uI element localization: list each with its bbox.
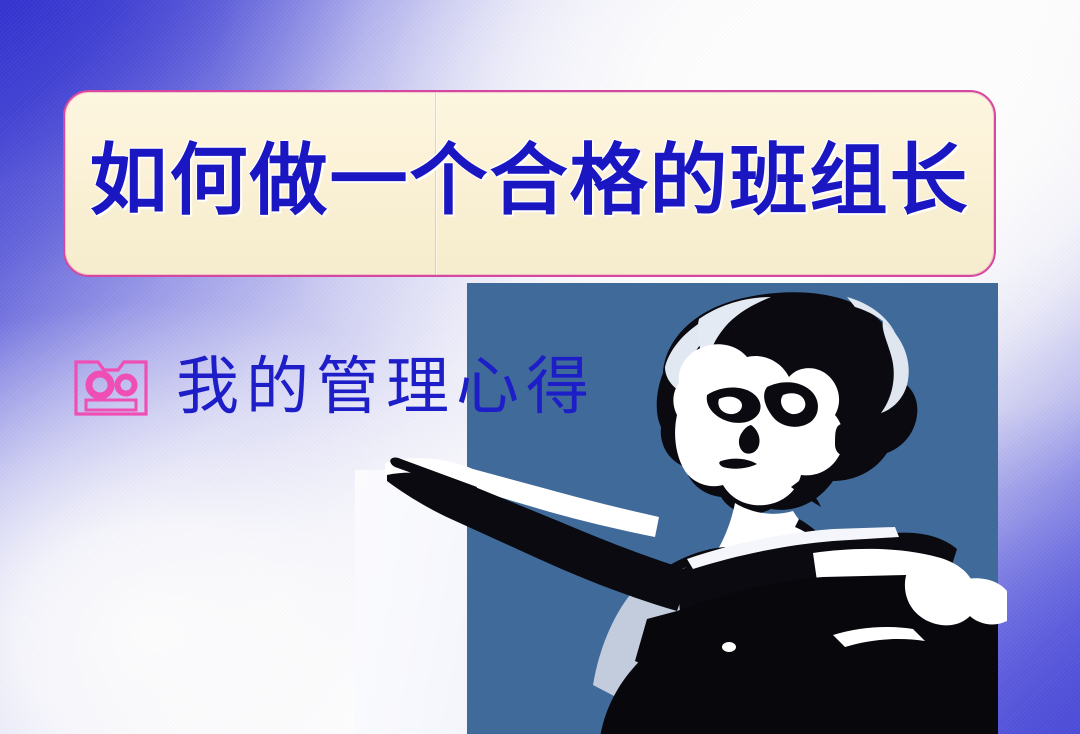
slide-canvas: 如何做一个合格的班组长 我的管理心得	[0, 0, 1080, 734]
page-title: 如何做一个合格的班组长	[65, 136, 994, 226]
page-subtitle: 我的管理心得	[176, 352, 596, 422]
title-plate: 如何做一个合格的班组长	[63, 90, 996, 277]
man-reading-book-illustration	[347, 275, 1007, 734]
cassette-bullet-icon	[72, 354, 150, 420]
subtitle-row: 我的管理心得	[72, 352, 596, 422]
